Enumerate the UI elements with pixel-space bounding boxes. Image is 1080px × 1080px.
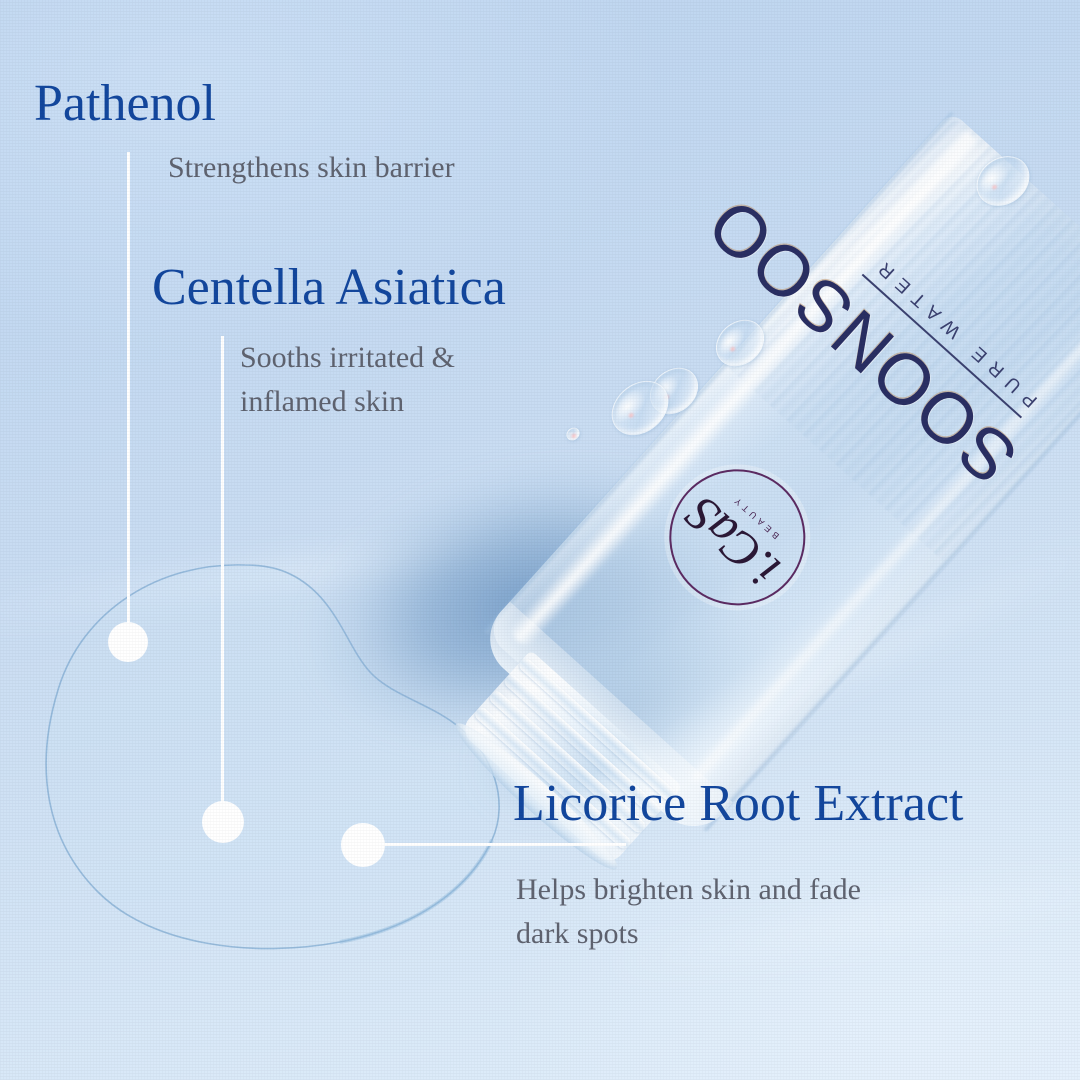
- callout-description-panthenol: Strengthens skin barrier: [168, 146, 688, 190]
- callout-description-centella-asiatica: Sooths irritated &inflamed skin: [240, 336, 570, 423]
- leader-dot-licorice-root-extract: [341, 823, 385, 867]
- leader-line-panthenol: [127, 152, 130, 644]
- callout-title-licorice-root-extract: Licorice Root Extract: [513, 778, 963, 830]
- seal-monogram: i.CaS: [677, 489, 788, 596]
- callout-title-panthenol: Pathenol: [34, 78, 216, 130]
- leader-line-licorice-root-extract: [380, 843, 626, 846]
- callout-description-line: dark spots: [516, 912, 1016, 956]
- callout-description-licorice-root-extract: Helps brighten skin and fadedark spots: [516, 868, 1016, 955]
- leader-dot-panthenol: [108, 622, 148, 662]
- callout-description-line: Sooths irritated &: [240, 336, 570, 380]
- callout-title-centella-asiatica: Centella Asiatica: [152, 262, 506, 314]
- leader-dot-centella-asiatica: [202, 801, 244, 843]
- leader-line-centella-asiatica: [221, 336, 224, 820]
- callout-description-line: Helps brighten skin and fade: [516, 868, 1016, 912]
- callout-description-line: inflamed skin: [240, 380, 570, 424]
- product-ingredient-infographic: SOONSOO PURE WATER i.CaS BEAUTY Pathenol…: [0, 0, 1080, 1080]
- callout-description-line: Strengthens skin barrier: [168, 146, 688, 190]
